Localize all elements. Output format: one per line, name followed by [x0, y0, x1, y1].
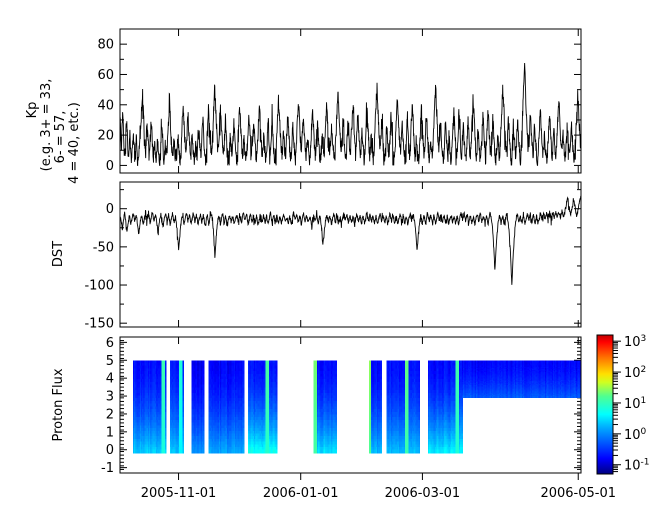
y-tick-label: 3	[106, 390, 114, 405]
y-tick-label: 2	[106, 407, 114, 422]
dst-axis-label: DST	[51, 241, 66, 267]
y-tick-label: -150	[84, 317, 114, 332]
spectrogram-cell	[276, 450, 278, 454]
plot-svg: Kp(e.g. 3+ = 33,6- = 57,4 = 40, etc.) 02…	[0, 0, 665, 523]
y-tick-label: -100	[84, 279, 114, 294]
y-tick-label: 40	[97, 98, 114, 113]
y-tick-label: 1	[106, 425, 114, 440]
kp-label-line-4: 4 = 40, etc.)	[67, 102, 82, 184]
y-tick-label: -50	[93, 240, 114, 255]
y-tick-label: 5	[106, 354, 114, 369]
spectrogram-cell	[203, 450, 205, 454]
y-tick-label: -1	[101, 461, 114, 476]
y-tick-label: 6	[106, 336, 114, 351]
y-tick-label: 60	[97, 68, 114, 83]
y-tick-label: 80	[97, 38, 114, 53]
y-tick-label: 0	[106, 159, 114, 174]
kp-label-line-1: Kp	[25, 102, 40, 119]
proton-flux-axis-label: Proton Flux	[51, 368, 66, 441]
y-tick-label: 0	[106, 443, 114, 458]
space-weather-figure: Kp(e.g. 3+ = 33,6- = 57,4 = 40, etc.) 02…	[0, 0, 665, 523]
spectrogram-cell	[165, 450, 167, 454]
y-tick-label: 4	[106, 372, 114, 387]
spectrogram-cell	[182, 450, 184, 454]
spectrogram-cell	[380, 450, 382, 454]
y-tick-label: 20	[97, 129, 114, 144]
spectrogram-cell	[243, 450, 245, 454]
spectrogram-cell	[335, 450, 337, 454]
kp-label-line-3: 6- = 57,	[53, 111, 68, 164]
y-tick-label: 0	[106, 202, 114, 217]
kp-label-line-2: (e.g. 3+ = 33,	[39, 79, 54, 172]
